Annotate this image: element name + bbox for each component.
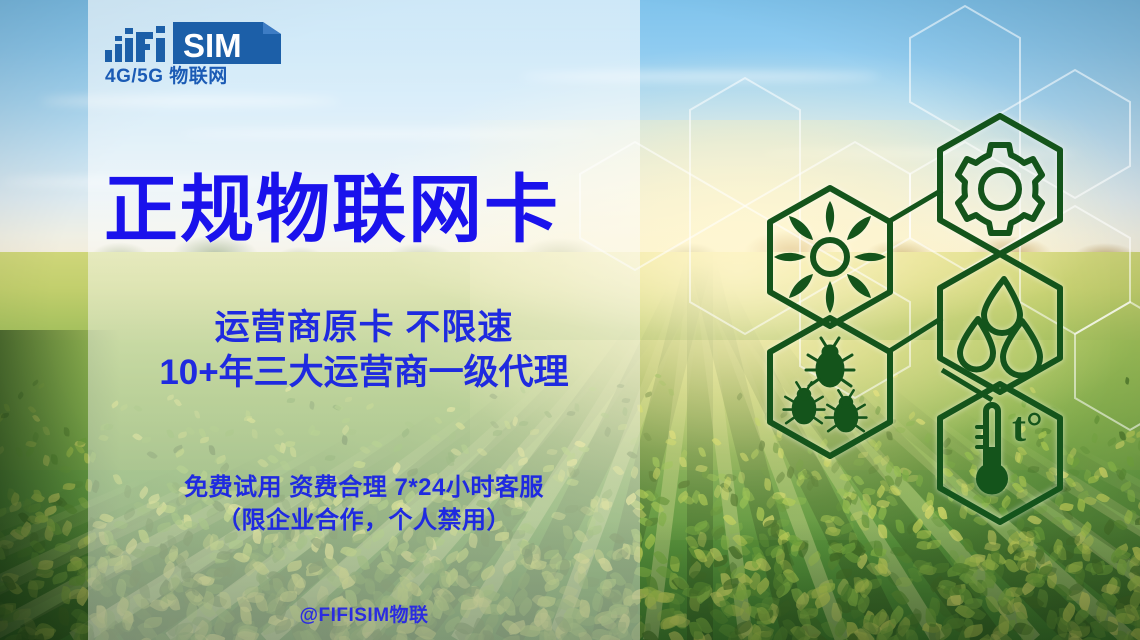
page-title: 正规物联网卡 <box>104 166 644 254</box>
foliage-speckle <box>729 493 739 506</box>
features-block: 免费试用 资费合理 7*24小时客服 （限企业合作，个人禁用） <box>88 472 640 538</box>
thermometer-icon: t° <box>977 405 1043 492</box>
sun-leaf-icon <box>774 201 886 313</box>
brand-logo: SIM 4G/5G 物联网 <box>105 20 345 94</box>
subheading-block: 运营商原卡 不限速 10+年三大运营商一级代理 <box>88 306 640 396</box>
subheading-line-1: 运营商原卡 不限速 <box>88 306 640 350</box>
feature-line-1: 免费试用 资费合理 7*24小时客服 <box>88 472 640 504</box>
water-drop-icon <box>960 279 1040 376</box>
pest-bug-icon <box>784 338 867 431</box>
logo-sim-text: SIM <box>183 27 242 64</box>
feature-line-2: （限企业合作，个人禁用） <box>88 504 640 538</box>
logo-mark: SIM <box>105 20 285 64</box>
gear-icon <box>958 145 1042 233</box>
logo-subtitle: 4G/5G 物联网 <box>105 66 345 88</box>
thermometer-label: t° <box>1012 405 1043 451</box>
subheading-line-2: 10+年三大运营商一级代理 <box>88 350 640 396</box>
logo-fifi-wordmark <box>105 26 165 62</box>
logo-sim-chip: SIM <box>173 22 281 64</box>
footer-watermark: @FIFISIM物联 <box>88 600 640 627</box>
icon-hexagon-cluster: t° <box>760 70 1140 570</box>
poster-canvas: t° <box>0 0 1140 640</box>
